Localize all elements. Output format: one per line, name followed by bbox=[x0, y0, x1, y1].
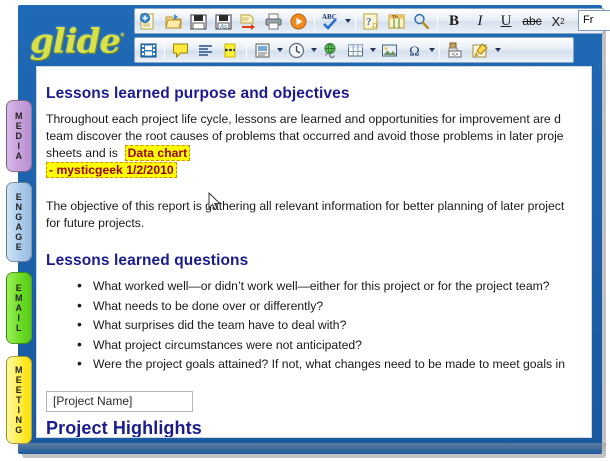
toolbar-separator bbox=[355, 12, 356, 30]
paragraph-objective-line1: The objective of this report is gatherin… bbox=[46, 198, 592, 215]
highlight-button[interactable] bbox=[218, 39, 243, 62]
sidebar-tab-email-label-l1: M bbox=[15, 293, 23, 303]
insert-object-button[interactable] bbox=[250, 39, 275, 62]
sidebar-tab-meeting-label-l4: I bbox=[17, 405, 20, 415]
logo-trademark: ° bbox=[120, 33, 124, 43]
time-dropdown-arrow[interactable] bbox=[309, 39, 318, 62]
save-as-button[interactable]: As bbox=[211, 10, 236, 33]
sidebar-tab-media-label-l0: M bbox=[15, 111, 23, 121]
strikethrough-button[interactable]: abc bbox=[519, 10, 545, 32]
sidebar-tab-meeting-label-l1: E bbox=[16, 375, 23, 385]
globe-link-button[interactable] bbox=[318, 39, 343, 62]
thesaurus-button[interactable]: Th bbox=[384, 10, 409, 33]
sidebar-tab-engage-label-l4: G bbox=[15, 232, 23, 242]
svg-text:Ω: Ω bbox=[409, 44, 419, 59]
inline-comment-line1[interactable]: Data chart bbox=[125, 145, 191, 161]
sidebar-tab-email[interactable]: E M A I L bbox=[6, 272, 32, 344]
sidebar-tab-email-label-l4: L bbox=[16, 323, 22, 333]
sidebar-tab-engage-label-l5: E bbox=[16, 242, 23, 252]
format-painter-dropdown-arrow[interactable] bbox=[493, 39, 502, 62]
svg-text:?: ? bbox=[366, 16, 372, 28]
sidebar-tab-meeting[interactable]: M E E T I N G bbox=[6, 356, 32, 444]
sidebar-tab-meeting-label-l6: G bbox=[15, 425, 23, 435]
toolbar-secondary: Ω <> bbox=[134, 37, 574, 63]
help-button[interactable]: ? D bbox=[359, 10, 384, 33]
bold-button[interactable]: B bbox=[441, 10, 467, 32]
paragraph-objective-line2: for future projects. bbox=[46, 215, 592, 232]
list-item: Were the project goals attained? If not,… bbox=[77, 355, 592, 375]
svg-text:D: D bbox=[371, 22, 377, 30]
list-item: What needs to be done over or differentl… bbox=[77, 297, 592, 317]
sidebar-tab-engage[interactable]: E N G A G E bbox=[6, 182, 32, 262]
open-folder-button[interactable] bbox=[161, 10, 186, 33]
toolbar-separator bbox=[246, 41, 247, 59]
insert-object-dropdown-arrow[interactable] bbox=[275, 39, 284, 62]
sidebar-tab-meeting-label-l2: E bbox=[16, 385, 23, 395]
subscript-button[interactable]: X2 bbox=[545, 10, 571, 32]
toolbar-separator bbox=[164, 41, 165, 59]
list-item: What worked well—or didn’t work well—eit… bbox=[77, 277, 592, 297]
heading-lessons-purpose: Lessons learned purpose and objectives bbox=[46, 85, 592, 103]
table-dropdown-arrow[interactable] bbox=[368, 39, 377, 62]
sidebar-tab-meeting-label-l3: T bbox=[16, 395, 22, 405]
list-item: What surprises did the team have to deal… bbox=[77, 316, 592, 336]
spellcheck-dropdown-arrow[interactable] bbox=[343, 10, 352, 33]
sidebar-tab-media-label-l2: D bbox=[16, 131, 23, 141]
image-button[interactable] bbox=[377, 39, 402, 62]
sidebar-tab-engage-label-l2: G bbox=[15, 212, 23, 222]
filmstrip-button[interactable] bbox=[136, 39, 161, 62]
zoom-button[interactable] bbox=[409, 10, 434, 33]
play-button[interactable] bbox=[286, 10, 311, 33]
toolbar-separator bbox=[437, 12, 438, 30]
inline-comment-line2-wrap: - mysticgeek 1/2/2010 bbox=[46, 162, 592, 179]
questions-list: What worked well—or didn’t work well—eit… bbox=[46, 277, 592, 375]
paragraph-objective: The objective of this report is gatherin… bbox=[46, 198, 592, 232]
sidebar-tab-media-label-l1: E bbox=[16, 121, 23, 131]
export-button[interactable] bbox=[236, 10, 261, 33]
toolbar-separator bbox=[314, 12, 315, 30]
new-document-button[interactable] bbox=[136, 10, 161, 33]
table-button[interactable] bbox=[343, 39, 368, 62]
symbol-button[interactable]: Ω bbox=[402, 39, 427, 62]
paragraph-purpose: Throughout each project life cycle, less… bbox=[46, 111, 592, 179]
italic-button[interactable]: I bbox=[467, 10, 493, 32]
svg-text:<>: <> bbox=[452, 52, 458, 58]
logo-text: glide bbox=[30, 21, 120, 61]
document-canvas[interactable]: Lessons learned purpose and objectives T… bbox=[36, 66, 592, 438]
toolbar-primary: As ABC bbox=[134, 8, 604, 34]
sidebar-tab-email-label-l0: E bbox=[16, 283, 23, 293]
align-button[interactable] bbox=[193, 39, 218, 62]
sidebar-tab-email-label-l3: I bbox=[17, 313, 20, 323]
inline-comment-line2[interactable]: - mysticgeek 1/2/2010 bbox=[46, 162, 177, 178]
svg-text:Th: Th bbox=[392, 13, 398, 18]
print-button[interactable] bbox=[261, 10, 286, 33]
sidebar-tab-engage-label-l3: A bbox=[16, 222, 23, 232]
window-bottom-shadow bbox=[18, 443, 606, 455]
heading-project-highlights: Project Highlights bbox=[46, 418, 592, 439]
font-name-input[interactable]: Fr bbox=[578, 10, 610, 31]
svg-text:As: As bbox=[219, 24, 227, 30]
paragraph-purpose-line3: sheets and is Data chart bbox=[46, 145, 592, 162]
symbol-dropdown-arrow[interactable] bbox=[427, 39, 436, 62]
paragraph-purpose-line3-text: sheets and is bbox=[46, 146, 118, 160]
subscript-index: 2 bbox=[560, 17, 564, 26]
sidebar-tab-meeting-label-l0: M bbox=[15, 365, 23, 375]
project-name-field[interactable]: [Project Name] bbox=[46, 391, 193, 412]
code-brush-button[interactable]: <> bbox=[443, 39, 468, 62]
time-button[interactable] bbox=[284, 39, 309, 62]
sidebar-tab-email-label-l2: A bbox=[16, 303, 23, 313]
save-button[interactable] bbox=[186, 10, 211, 33]
sidebar-tab-media[interactable]: M E D I A bbox=[6, 100, 32, 172]
toolbar-separator bbox=[439, 41, 440, 59]
sidebar-tab-engage-label-l0: E bbox=[16, 192, 23, 202]
glide-logo: glide° bbox=[30, 18, 140, 58]
sidebar-tab-media-label-l4: A bbox=[16, 151, 23, 161]
paragraph-purpose-line2: team discover the root causes of problem… bbox=[46, 128, 592, 145]
sidebar-tab-media-label-l3: I bbox=[17, 141, 20, 151]
list-item: What project circumstances were not anti… bbox=[77, 336, 592, 356]
paragraph-purpose-line1: Throughout each project life cycle, less… bbox=[46, 111, 592, 128]
sidebar-tab-engage-label-l1: N bbox=[16, 202, 23, 212]
heading-lessons-questions: Lessons learned questions bbox=[46, 252, 592, 270]
comment-button[interactable] bbox=[168, 39, 193, 62]
spellcheck-button[interactable]: ABC bbox=[318, 10, 343, 33]
application-window: glide° bbox=[0, 0, 610, 461]
format-painter-button[interactable] bbox=[468, 39, 493, 62]
sidebar-tab-meeting-label-l5: N bbox=[16, 415, 23, 425]
subscript-base: X bbox=[551, 14, 560, 29]
underline-button[interactable]: U bbox=[493, 10, 519, 32]
